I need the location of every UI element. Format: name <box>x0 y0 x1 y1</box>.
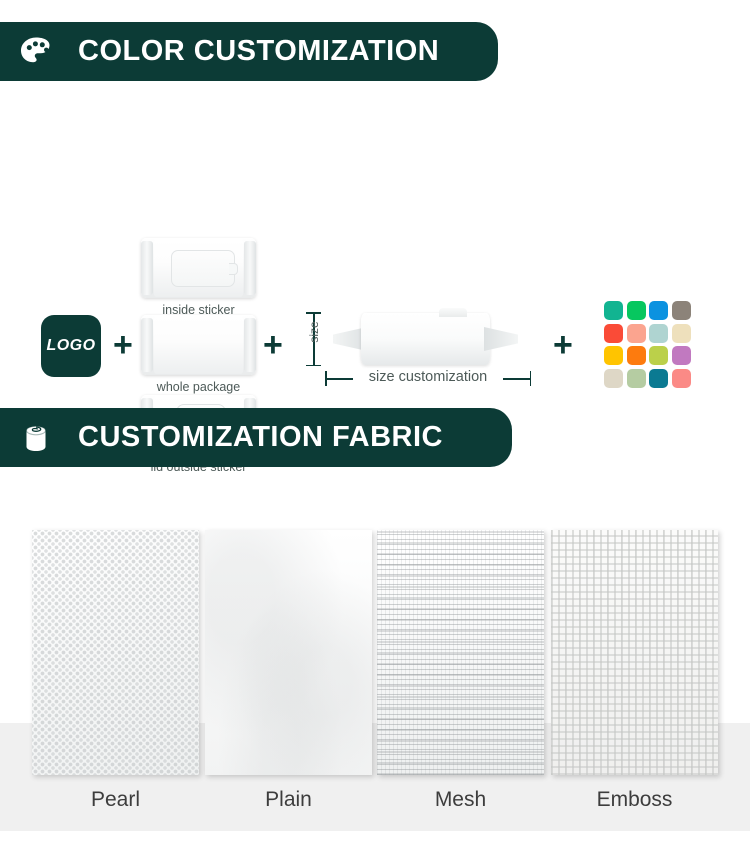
fabric-texture-mesh <box>377 530 544 775</box>
pillow-pack-illustration <box>333 313 518 365</box>
pack-lid-nub <box>439 308 467 317</box>
fabric-option-plain[interactable]: Plain <box>205 530 372 775</box>
fabric-label-pearl: Pearl <box>32 788 199 812</box>
package-option-whole-package[interactable]: whole package <box>141 315 256 394</box>
color-swatch-cream[interactable] <box>672 324 691 343</box>
section-banner-color: COLOR CUSTOMIZATION <box>0 22 498 81</box>
color-swatch-grid <box>604 301 691 388</box>
plus-icon-2: + <box>263 328 283 362</box>
logo-label: LOGO <box>46 337 95 355</box>
package-body <box>154 316 243 374</box>
logo-placeholder[interactable]: LOGO <box>41 315 101 377</box>
color-swatch-blue[interactable] <box>649 301 668 320</box>
color-swatch-emerald[interactable] <box>627 301 646 320</box>
fabric-roll-icon <box>14 416 58 460</box>
section-title-fabric: CUSTOMIZATION FABRIC <box>78 421 443 454</box>
color-swatch-pale-aqua[interactable] <box>649 324 668 343</box>
size-label-horizontal: size customization <box>353 369 503 385</box>
size-label-vertical: size <box>307 310 321 354</box>
color-swatch-sage[interactable] <box>627 369 646 388</box>
size-customization-diagram: size size customization <box>300 295 550 395</box>
color-swatch-yellow-green[interactable] <box>649 346 668 365</box>
fabric-label-mesh: Mesh <box>377 788 544 812</box>
fabric-option-mesh[interactable]: Mesh <box>377 530 544 775</box>
color-swatch-teal-green[interactable] <box>604 301 623 320</box>
size-dimension-vertical: size <box>304 309 324 369</box>
dimension-cap-right <box>530 371 532 386</box>
package-illustration <box>141 238 256 298</box>
fabric-texture-emboss <box>551 530 718 775</box>
fabric-label-emboss: Emboss <box>551 788 718 812</box>
fabric-texture-plain <box>205 530 372 775</box>
dimension-cap-bottom <box>306 365 321 367</box>
package-illustration <box>141 315 256 375</box>
pack-core <box>361 313 490 365</box>
fabric-label-plain: Plain <box>205 788 372 812</box>
color-swatch-orange[interactable] <box>627 346 646 365</box>
color-swatch-coral[interactable] <box>672 369 691 388</box>
color-swatch-red-orange[interactable] <box>604 324 623 343</box>
plus-icon-3: + <box>553 328 573 362</box>
palette-icon <box>14 30 58 74</box>
package-label-whole-package: whole package <box>141 380 256 394</box>
fabric-option-pearl[interactable]: Pearl <box>32 530 199 775</box>
plus-icon-1: + <box>113 328 133 362</box>
package-option-inside-sticker[interactable]: inside sticker <box>141 238 256 317</box>
color-swatch-warm-gray[interactable] <box>672 301 691 320</box>
color-swatch-golden-yellow[interactable] <box>604 346 623 365</box>
section-title-color: COLOR CUSTOMIZATION <box>78 35 439 68</box>
fabric-texture-pearl <box>32 530 199 775</box>
section-banner-fabric: CUSTOMIZATION FABRIC <box>0 408 512 467</box>
color-customization-content: LOGO + inside sticker whole package lid … <box>0 110 750 380</box>
color-swatch-beige[interactable] <box>604 369 623 388</box>
inside-sticker-shape <box>171 250 235 287</box>
pack-tip-right <box>484 327 518 351</box>
color-swatch-salmon[interactable] <box>627 324 646 343</box>
color-swatch-orchid[interactable] <box>672 346 691 365</box>
size-dimension-horizontal: size customization <box>322 367 534 389</box>
fabric-option-emboss[interactable]: Emboss <box>551 530 718 775</box>
color-swatch-deep-teal[interactable] <box>649 369 668 388</box>
fabric-swatch-row: PearlPlainMeshEmboss <box>0 530 750 790</box>
